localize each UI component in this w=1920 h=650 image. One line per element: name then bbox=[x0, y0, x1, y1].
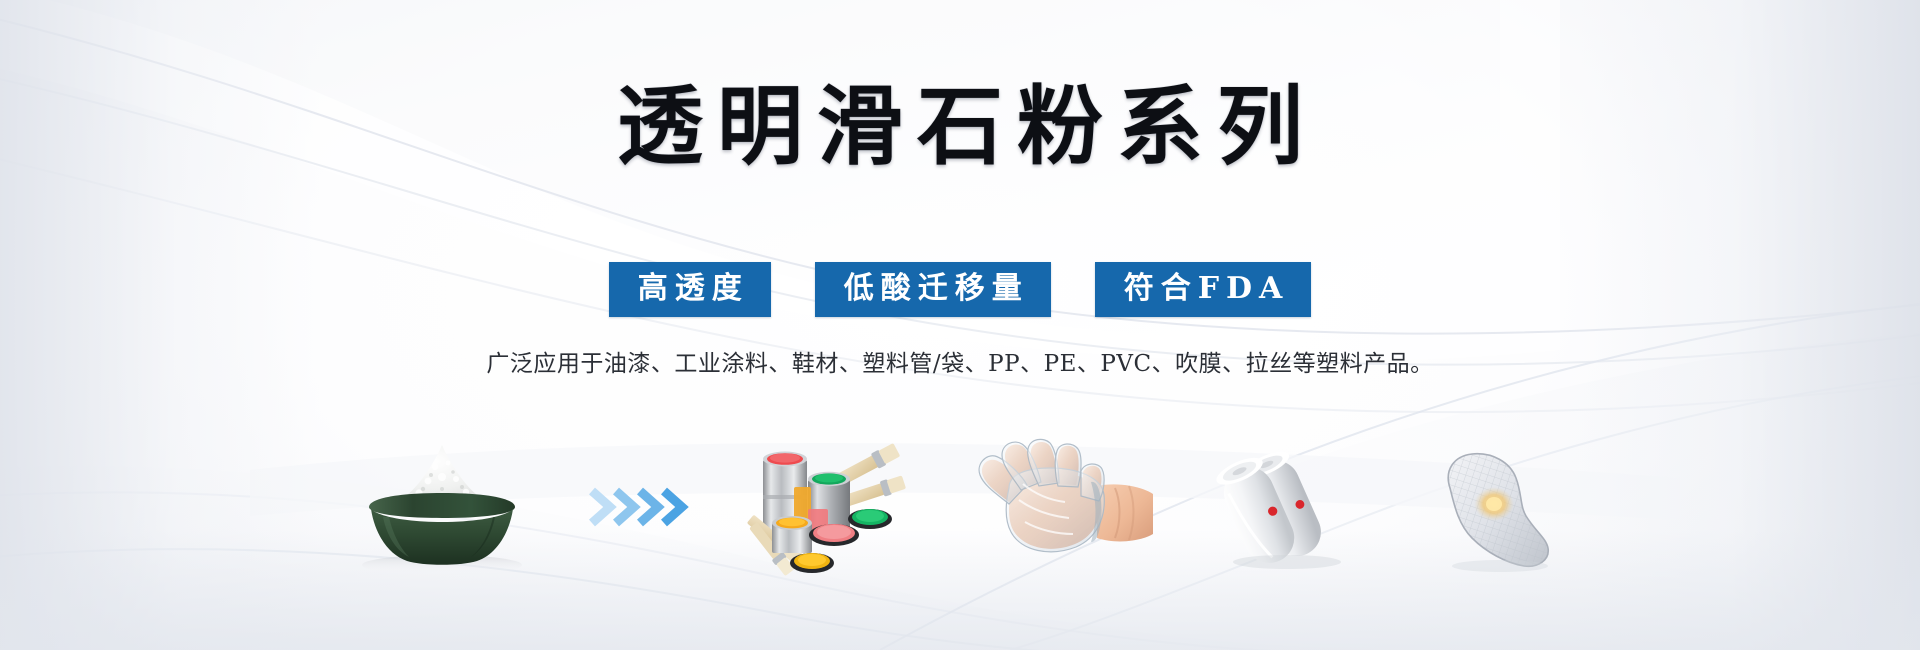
application-description: 广泛应用于油漆、工业涂料、鞋材、塑料管/袋、PP、PE、PVC、吹膜、拉丝等塑料… bbox=[486, 353, 1433, 376]
badge-low-acid-migration: 低酸迁移量 bbox=[815, 262, 1051, 317]
page-title: 透明滑石粉系列 bbox=[603, 84, 1317, 170]
badge-fda-compliant: 符合FDA bbox=[1095, 262, 1312, 317]
badge-high-transparency: 高透度 bbox=[609, 262, 771, 317]
product-banner: 透明滑石粉系列 高透度 低酸迁移量 符合FDA 广泛应用于油漆、工业涂料、鞋材、… bbox=[0, 0, 1920, 650]
feature-badge-group: 高透度 低酸迁移量 符合FDA bbox=[609, 262, 1312, 317]
